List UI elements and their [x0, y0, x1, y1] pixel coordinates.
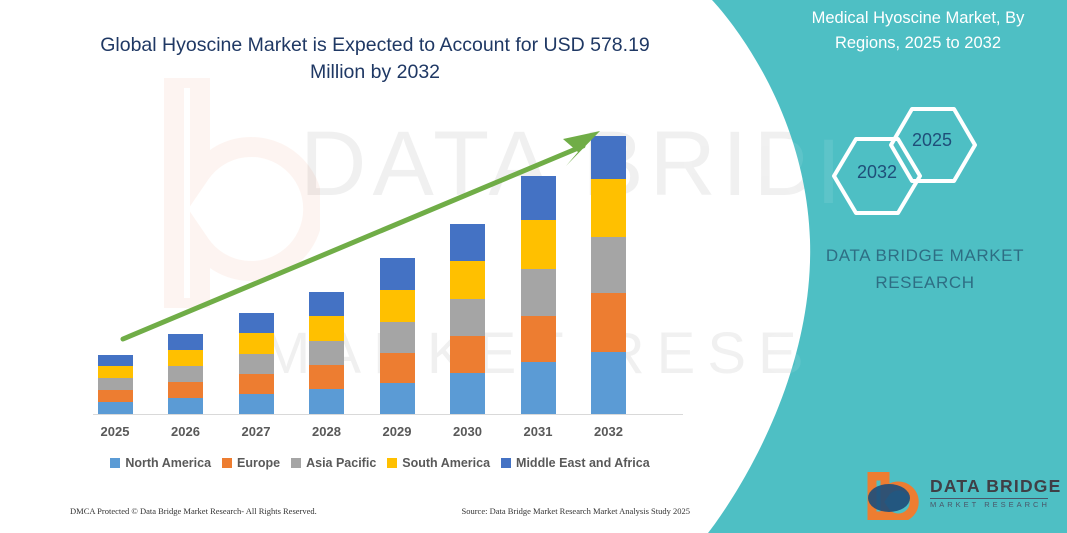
legend-label: Europe [237, 456, 280, 470]
logo-divider [930, 498, 1048, 499]
bar-segment-middle-east-and-africa [521, 176, 556, 220]
bar-segment-middle-east-and-africa [450, 224, 485, 261]
bar-segment-middle-east-and-africa [591, 136, 626, 179]
panel-title: Medical Hyoscine Market, By Regions, 202… [780, 6, 1056, 56]
legend-label: Middle East and Africa [516, 456, 650, 470]
bar-segment-south-america [168, 350, 203, 366]
footer-copyright: DMCA Protected © Data Bridge Market Rese… [70, 506, 317, 516]
panel-brand-line1: DATA BRIDGE MARKET [800, 242, 1050, 269]
page-title: Global Hyoscine Market is Expected to Ac… [70, 32, 680, 86]
legend-item-south-america[interactable]: South America [387, 456, 490, 470]
bar-2027 [239, 313, 274, 414]
bar-segment-middle-east-and-africa [239, 313, 274, 333]
bar-2028 [309, 292, 344, 414]
x-label-2027: 2027 [226, 424, 286, 439]
bar-segment-south-america [98, 366, 133, 378]
bar-2025 [98, 355, 133, 414]
bar-segment-south-america [521, 220, 556, 269]
legend-label: Asia Pacific [306, 456, 376, 470]
bar-segment-europe [591, 293, 626, 352]
bar-segment-asia-pacific [239, 354, 274, 374]
x-label-2031: 2031 [508, 424, 568, 439]
bar-segment-north-america [98, 402, 133, 414]
x-label-2025: 2025 [85, 424, 145, 439]
bar-segment-north-america [521, 362, 556, 414]
bar-segment-asia-pacific [380, 322, 415, 353]
bar-2029 [380, 258, 415, 414]
legend-swatch-icon [110, 458, 120, 468]
bar-segment-middle-east-and-africa [168, 334, 203, 350]
bar-segment-north-america [450, 373, 485, 414]
x-label-2026: 2026 [156, 424, 216, 439]
bar-segment-middle-east-and-africa [380, 258, 415, 290]
bar-segment-south-america [450, 261, 485, 299]
bar-segment-europe [309, 365, 344, 389]
legend-label: South America [402, 456, 490, 470]
bar-segment-europe [168, 382, 203, 398]
legend-label: North America [125, 456, 211, 470]
footer: DMCA Protected © Data Bridge Market Rese… [70, 506, 690, 516]
bar-2032 [591, 136, 626, 414]
chart-plot-area [75, 110, 695, 415]
bar-segment-south-america [239, 333, 274, 354]
legend-item-north-america[interactable]: North America [110, 456, 211, 470]
bar-segment-europe [98, 390, 133, 402]
bar-segment-asia-pacific [521, 269, 556, 316]
x-label-2028: 2028 [297, 424, 357, 439]
x-label-2030: 2030 [438, 424, 498, 439]
bar-segment-middle-east-and-africa [98, 355, 133, 366]
panel-brand: DATA BRIDGE MARKET RESEARCH [800, 242, 1050, 296]
bar-2026 [168, 334, 203, 414]
bar-segment-asia-pacific [309, 341, 344, 365]
bar-2030 [450, 224, 485, 414]
bar-segment-europe [450, 336, 485, 373]
legend-swatch-icon [387, 458, 397, 468]
bar-segment-south-america [591, 179, 626, 237]
x-label-2029: 2029 [367, 424, 427, 439]
bar-segment-asia-pacific [591, 237, 626, 293]
bar-segment-north-america [168, 398, 203, 414]
stacked-bar-chart: 20252026202720282029203020312032 [75, 110, 695, 450]
infographic-canvas: DATA BRIDGE MARKET RESEARCH Global Hyosc… [0, 0, 1067, 533]
bar-segment-europe [239, 374, 274, 394]
logo-text: DATA BRIDGE MARKET RESEARCH [930, 477, 1061, 510]
bar-segment-europe [521, 316, 556, 362]
panel-brand-line2: RESEARCH [800, 269, 1050, 296]
legend-item-europe[interactable]: Europe [222, 456, 280, 470]
bar-segment-north-america [309, 389, 344, 414]
bar-segment-south-america [309, 316, 344, 341]
bar-segment-europe [380, 353, 415, 383]
legend-swatch-icon [291, 458, 301, 468]
hexagon-2032-label: 2032 [832, 162, 922, 183]
bar-2031 [521, 176, 556, 414]
footer-source: Source: Data Bridge Market Research Mark… [461, 506, 690, 516]
bar-segment-north-america [591, 352, 626, 414]
logo-subtitle: MARKET RESEARCH [930, 500, 1061, 510]
x-label-2032: 2032 [579, 424, 639, 439]
legend-item-middle-east-and-africa[interactable]: Middle East and Africa [501, 456, 650, 470]
bar-segment-south-america [380, 290, 415, 322]
logo-title: DATA BRIDGE [930, 477, 1061, 496]
x-axis-line [93, 414, 683, 415]
x-axis-labels: 20252026202720282029203020312032 [75, 418, 695, 444]
bar-segment-north-america [380, 383, 415, 414]
bar-segment-middle-east-and-africa [309, 292, 344, 316]
legend-item-asia-pacific[interactable]: Asia Pacific [291, 456, 376, 470]
legend-swatch-icon [222, 458, 232, 468]
chart-legend: North AmericaEuropeAsia PacificSouth Ame… [70, 456, 690, 470]
bar-segment-asia-pacific [98, 378, 133, 390]
bar-segment-north-america [239, 394, 274, 414]
legend-swatch-icon [501, 458, 511, 468]
bar-segment-asia-pacific [168, 366, 203, 382]
bar-segment-asia-pacific [450, 299, 485, 336]
